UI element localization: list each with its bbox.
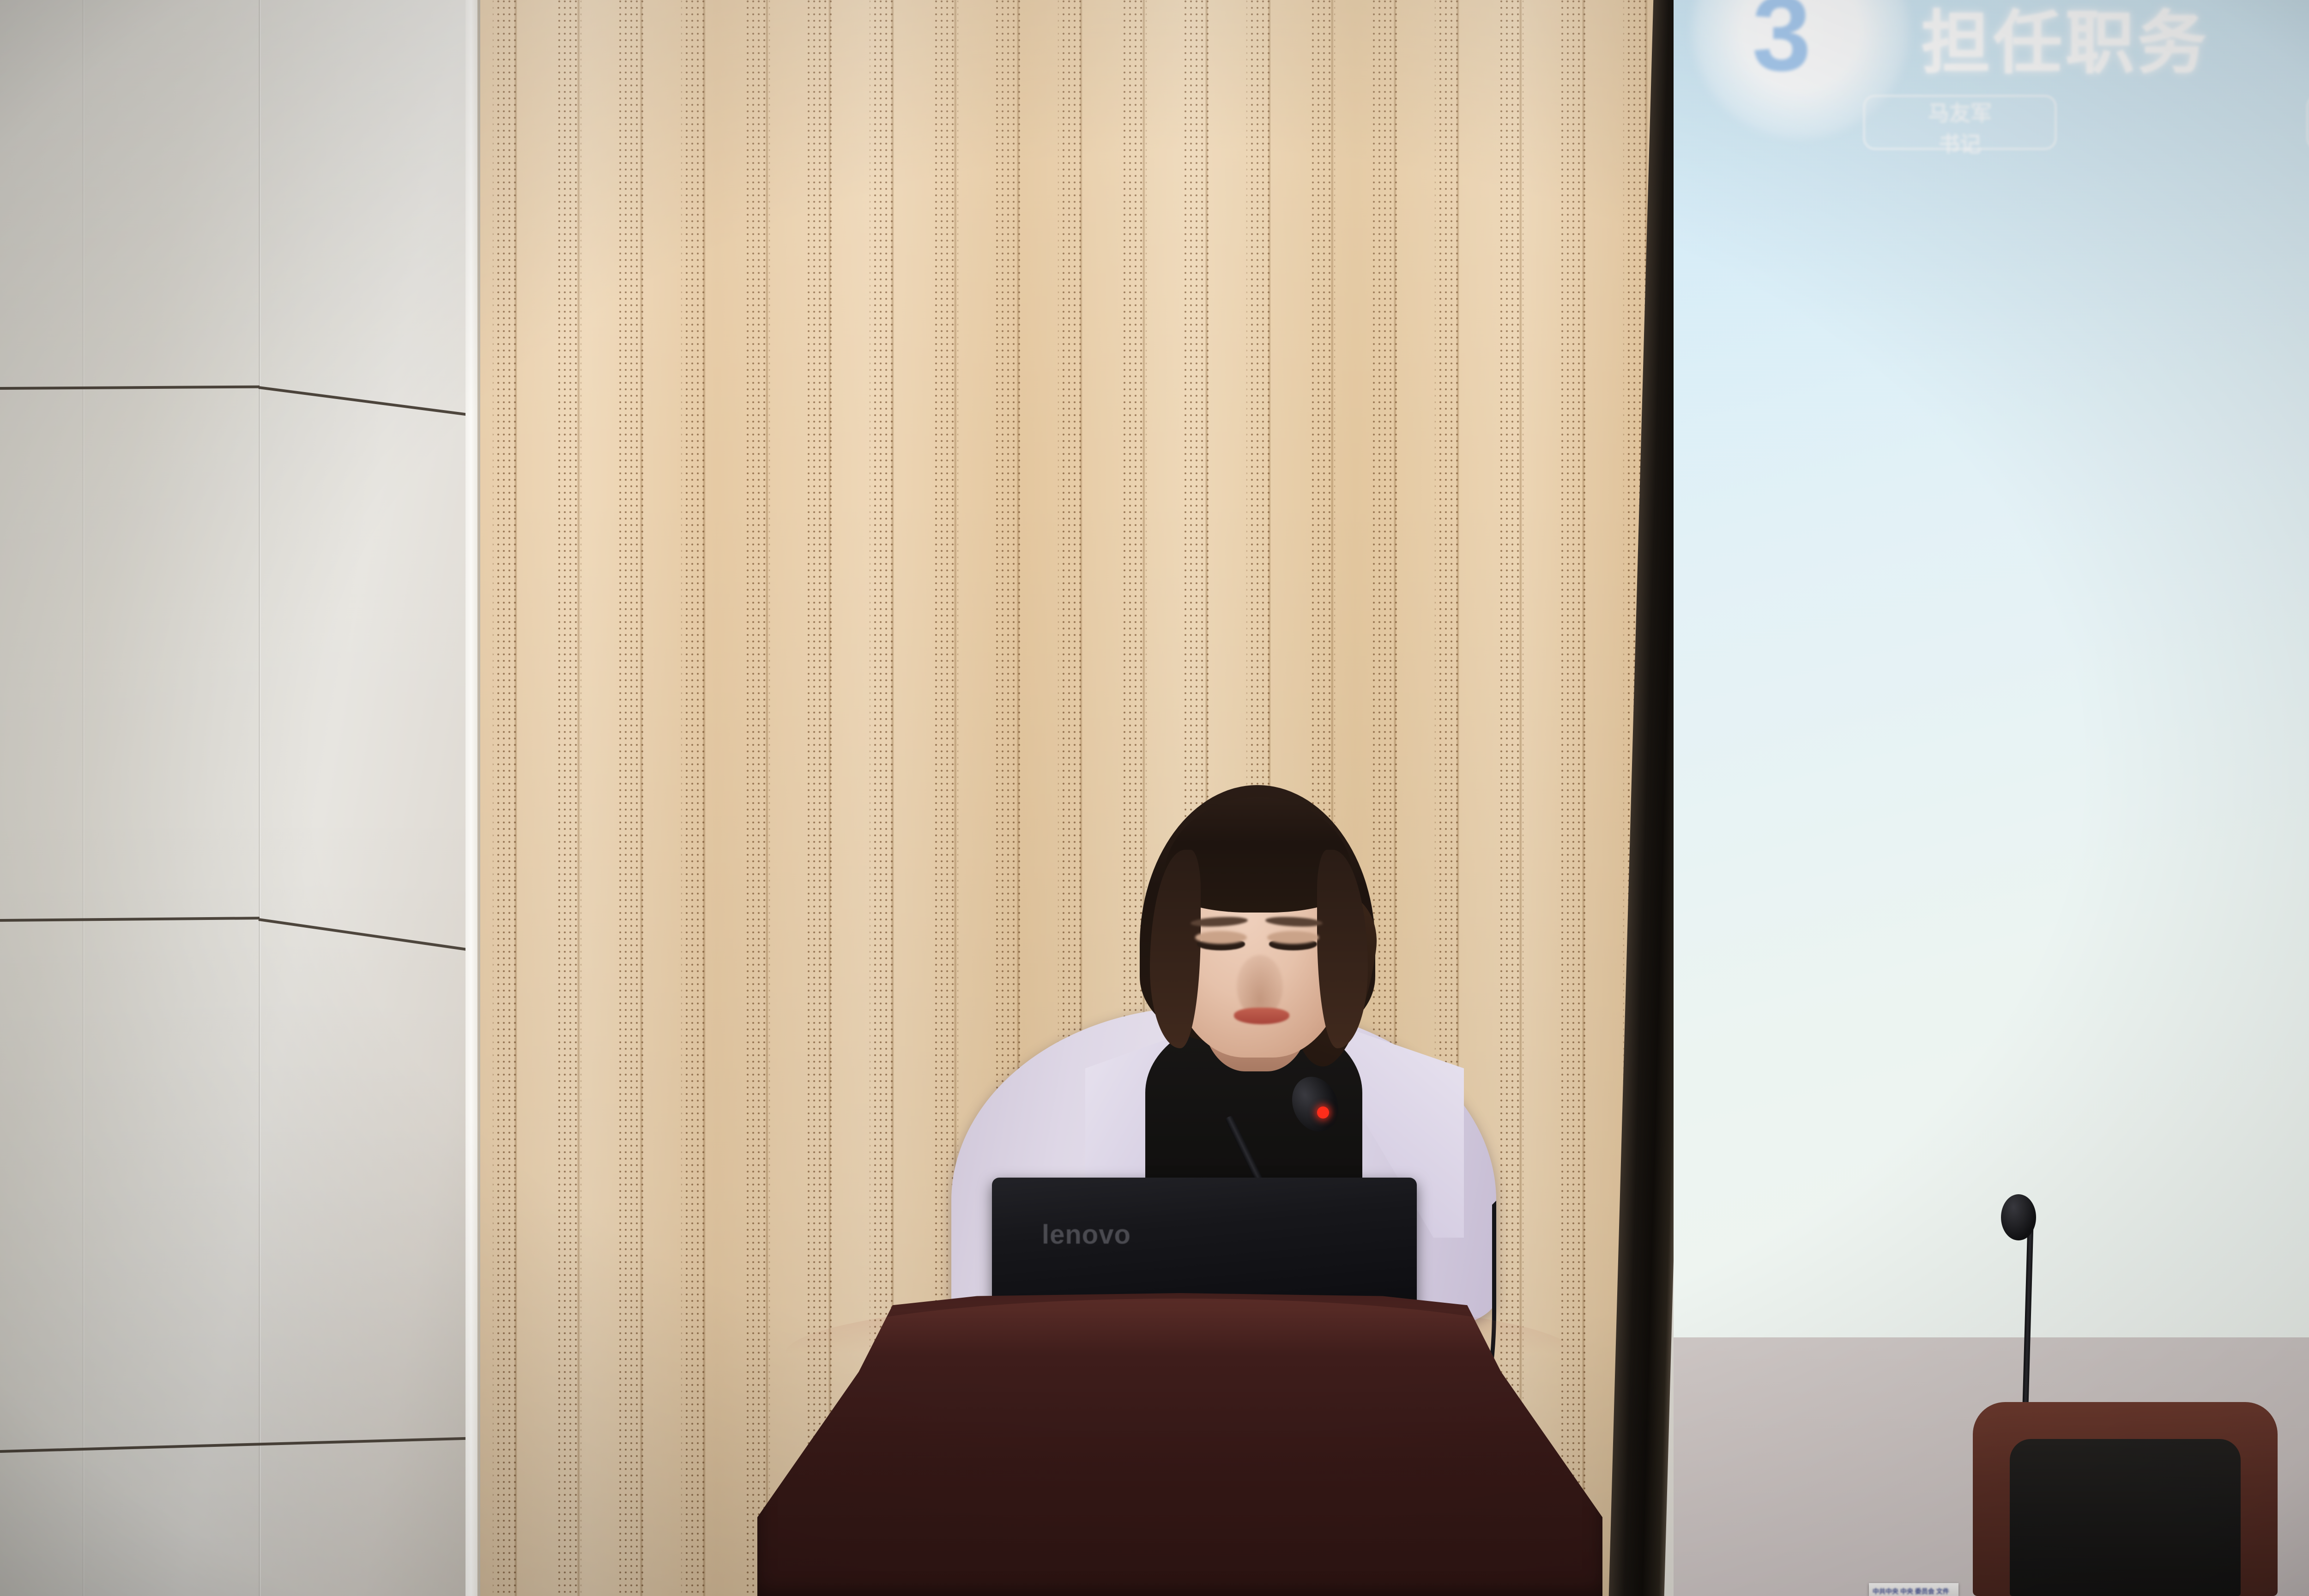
speaker-mouth — [1234, 1008, 1289, 1024]
wall-vertical-joint-2 — [82, 0, 85, 1596]
conference-hall-photo: 3 担任职务 马友军书记 中共中央 中央 委员会 文件 — [0, 0, 2309, 1596]
step-number: 3 — [1752, 0, 1810, 87]
wall-vertical-joint-1 — [259, 0, 261, 1596]
speaker-eyelid-left — [1195, 931, 1247, 944]
projection-screen: 3 担任职务 马友军书记 — [1674, 0, 2309, 1339]
screen-weave-texture — [1674, 0, 2309, 1339]
name-placard-text: 中共中央 中央 委员会 文件 — [1873, 1587, 1949, 1596]
podium-microphone-led — [1317, 1106, 1329, 1118]
slide-card-1-line1: 马友军 — [1928, 101, 1992, 125]
slide-card-2 — [2306, 95, 2309, 150]
table-microphone-head — [2001, 1194, 2036, 1240]
laptop-brand-logo: lenovo — [1042, 1219, 1131, 1250]
slide-card-1-text: 马友军书记 — [1863, 98, 2057, 159]
slide-card-1-line2: 书记 — [1939, 132, 1981, 156]
speaker-eyelid-right — [1267, 931, 1319, 944]
left-wall-shading — [0, 0, 466, 1596]
meeting-chair-upholstery — [2010, 1439, 2241, 1596]
slide-heading: 担任职务 — [1921, 8, 2209, 78]
